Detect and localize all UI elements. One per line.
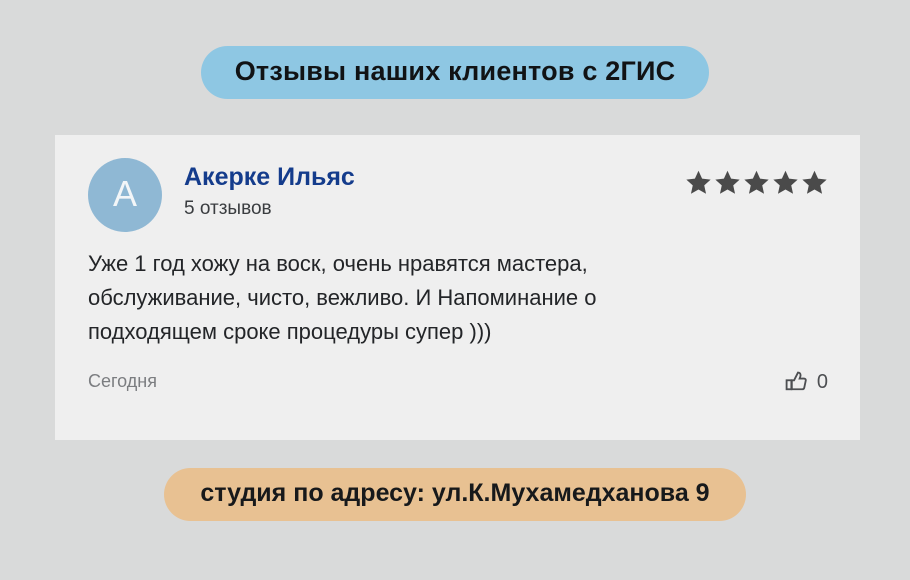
review-text-line: подходящем сроке процедуры супер ))) [88,315,808,349]
star-icon [714,169,741,196]
header-title-text: Отзывы наших клиентов с 2ГИС [235,56,676,87]
address-pill: студия по адресу: ул.К.Мухамедханова 9 [164,468,745,521]
header-banner: Отзывы наших клиентов с 2ГИС [0,46,910,99]
reviewer-review-count: 5 отзывов [184,198,355,221]
rating-stars [685,169,828,196]
like-count: 0 [817,372,828,392]
star-icon [685,169,712,196]
review-text-line: Уже 1 год хожу на воск, очень нравятся м… [88,247,808,281]
review-date: Сегодня [88,371,157,393]
star-icon [801,169,828,196]
thumbs-up-icon[interactable] [784,369,810,395]
review-card: A Акерке Ильяс 5 отзывов Уже 1 год хожу … [55,135,860,440]
review-header: A Акерке Ильяс 5 отзывов [88,157,832,241]
avatar-initial: A [113,176,137,215]
review-footer: Сегодня 0 [88,369,832,395]
footer-banner: студия по адресу: ул.К.Мухамедханова 9 [0,468,910,521]
review-text-line: обслуживание, чисто, вежливо. И Напомина… [88,281,808,315]
like-control[interactable]: 0 [784,369,828,395]
review-text: Уже 1 год хожу на воск, очень нравятся м… [88,247,808,349]
header-title-pill: Отзывы наших клиентов с 2ГИС [201,46,710,99]
star-icon [743,169,770,196]
reviewer-info: Акерке Ильяс 5 отзывов [184,157,355,221]
star-icon [772,169,799,196]
address-text: студия по адресу: ул.К.Мухамедханова 9 [200,479,709,508]
reviewer-name[interactable]: Акерке Ильяс [184,163,355,192]
avatar: A [88,158,162,232]
